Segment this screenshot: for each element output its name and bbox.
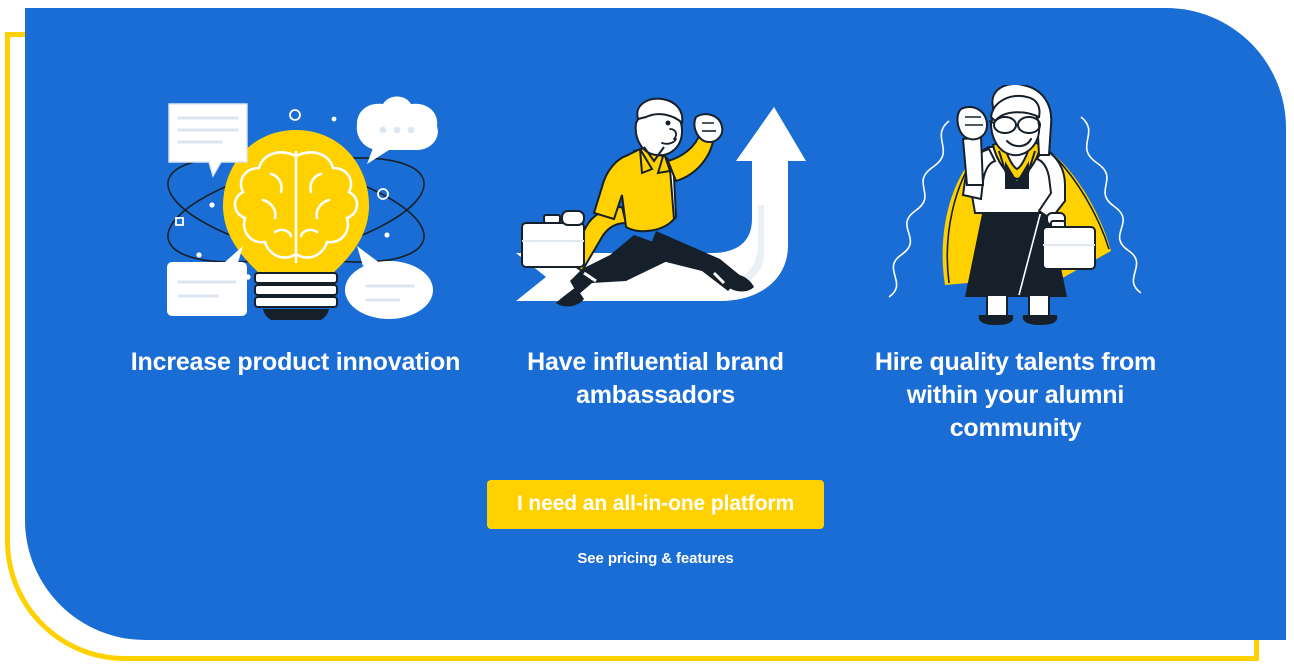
blue-content-panel: Increase product innovation (25, 8, 1286, 640)
see-pricing-features-link[interactable]: See pricing & features (577, 550, 733, 567)
feature-caption: Increase product innovation (131, 346, 461, 379)
feature-item-ambassadors: Have influential brand ambassadors (476, 8, 836, 412)
running-businessman-growth-arrow-icon (496, 80, 816, 330)
promo-banner: Increase product innovation (0, 0, 1294, 668)
lightbulb-brain-idea-icon (136, 80, 456, 330)
all-in-one-platform-button[interactable]: I need an all-in-one platform (487, 480, 824, 529)
superhero-businesswoman-cape-icon (856, 80, 1176, 330)
cta-section: I need an all-in-one platform See pricin… (25, 480, 1286, 567)
feature-list: Increase product innovation (25, 8, 1286, 445)
feature-caption: Hire quality talents from within your al… (851, 346, 1181, 445)
feature-item-alumni-talents: Hire quality talents from within your al… (836, 8, 1196, 445)
feature-item-innovation: Increase product innovation (116, 8, 476, 379)
feature-caption: Have influential brand ambassadors (491, 346, 821, 412)
